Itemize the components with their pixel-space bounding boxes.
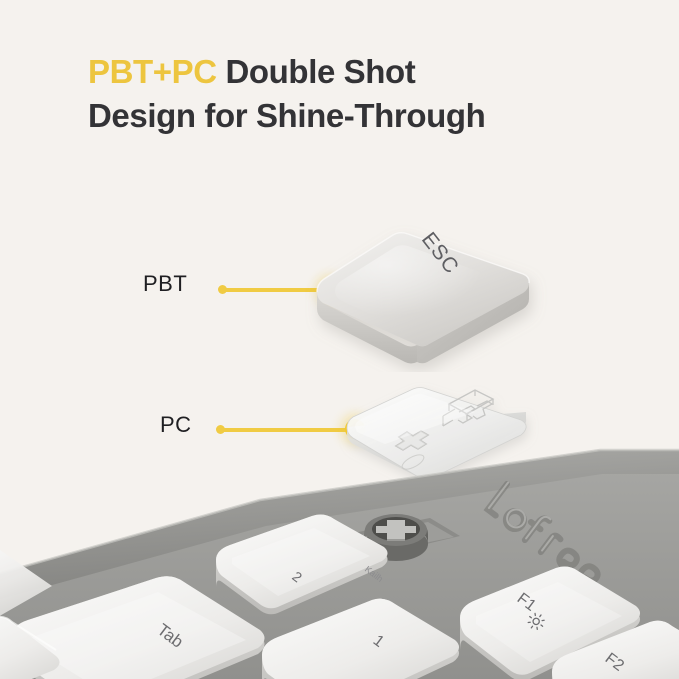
- page-title: PBT+PC Double Shot Design for Shine-Thro…: [88, 50, 648, 138]
- headline-accent: PBT+PC: [88, 53, 217, 90]
- headline-line1-rest: Double Shot: [217, 53, 416, 90]
- callout-label-pbt: PBT: [143, 271, 187, 297]
- headline-line2: Design for Shine-Through: [88, 97, 485, 134]
- product-marketing-canvas: PBT+PC Double Shot Design for Shine-Thro…: [0, 0, 679, 679]
- callout-label-pc: PC: [160, 412, 192, 438]
- keyboard-assembly: [0, 440, 679, 679]
